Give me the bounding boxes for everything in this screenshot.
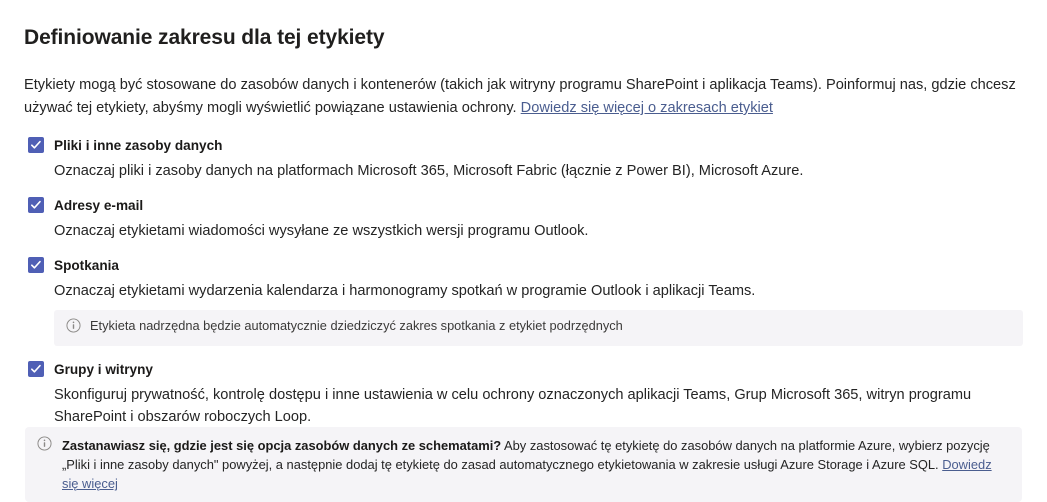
page-title: Definiowanie zakresu dla tej etykiety: [24, 0, 1023, 52]
azure-schematized-assets-message-bar: Zastanawiasz się, gdzie jest się opcja z…: [25, 427, 1022, 502]
scope-options-list: Pliki i inne zasoby danych Oznaczaj plik…: [24, 136, 1023, 428]
intro-paragraph: Etykiety mogą być stosowane do zasobów d…: [24, 52, 1023, 120]
checkbox-email-addresses[interactable]: [28, 197, 44, 213]
info-circle-icon: [66, 318, 81, 338]
option-email-addresses[interactable]: Adresy e-mail Oznaczaj etykietami wiadom…: [24, 196, 1023, 242]
option-description: Oznaczaj pliki i zasoby danych na platfo…: [54, 160, 1019, 182]
checkbox-meetings[interactable]: [28, 257, 44, 273]
option-label: Spotkania: [54, 256, 1023, 275]
option-groups-and-sites[interactable]: Grupy i witryny Skonfiguruj prywatność, …: [24, 360, 1023, 428]
option-label: Grupy i witryny: [54, 360, 1023, 379]
check-icon: [30, 199, 42, 211]
label-scope-page: Definiowanie zakresu dla tej etykiety Et…: [0, 0, 1047, 501]
check-icon: [30, 363, 42, 375]
message-bar-text: Zastanawiasz się, gdzie jest się opcja z…: [52, 435, 1010, 493]
checkbox-groups-and-sites[interactable]: [28, 361, 44, 377]
check-icon: [30, 259, 42, 271]
option-description: Oznaczaj etykietami wiadomości wysyłane …: [54, 220, 1019, 242]
checkbox-files-and-data-assets[interactable]: [28, 137, 44, 153]
note-text: Etykieta nadrzędna będzie automatycznie …: [81, 317, 623, 335]
option-meetings[interactable]: Spotkania Oznaczaj etykietami wydarzenia…: [24, 256, 1023, 346]
option-label: Pliki i inne zasoby danych: [54, 136, 1023, 155]
option-description: Skonfiguruj prywatność, kontrolę dostępu…: [54, 384, 1019, 428]
learn-more-scopes-link[interactable]: Dowiedz się więcej o zakresach etykiet: [521, 100, 773, 116]
check-icon: [30, 139, 42, 151]
message-bar-bold-lead: Zastanawiasz się, gdzie jest się opcja z…: [62, 438, 501, 453]
info-circle-icon: [37, 436, 52, 456]
option-files-and-data-assets[interactable]: Pliki i inne zasoby danych Oznaczaj plik…: [24, 136, 1023, 182]
meetings-inheritance-note: Etykieta nadrzędna będzie automatycznie …: [54, 310, 1023, 346]
option-description: Oznaczaj etykietami wydarzenia kalendarz…: [54, 280, 1019, 302]
option-label: Adresy e-mail: [54, 196, 1023, 215]
